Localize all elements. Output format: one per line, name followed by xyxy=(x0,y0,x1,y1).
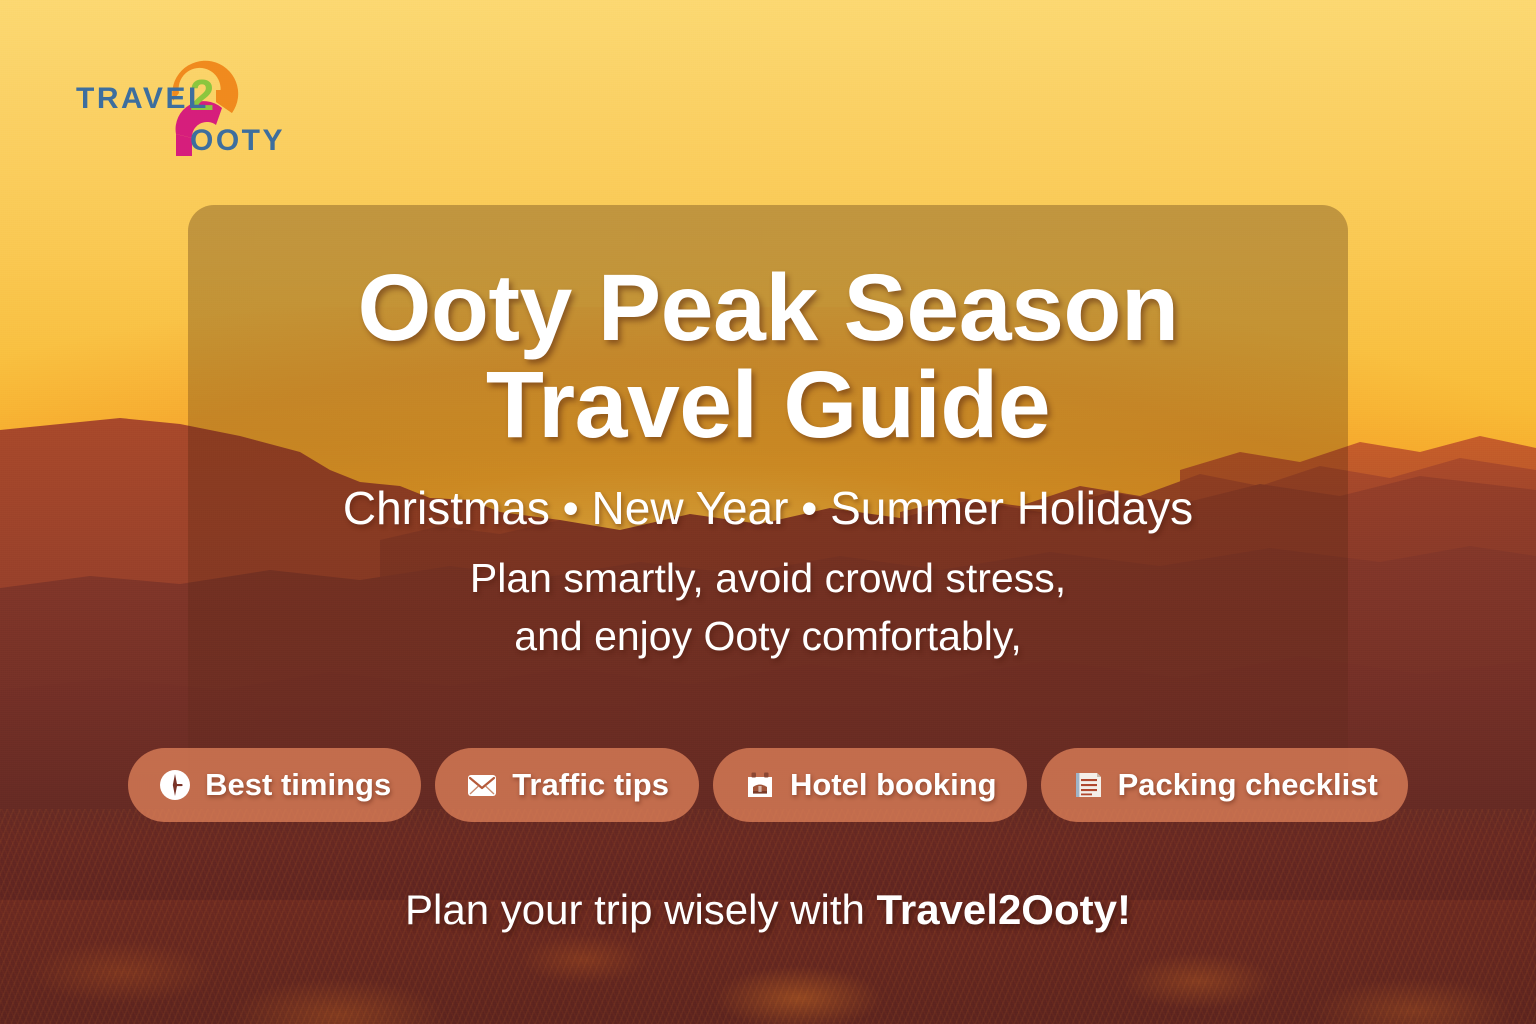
pill-label: Packing checklist xyxy=(1118,767,1378,803)
logo-word-travel: TRAVEL xyxy=(76,82,209,115)
feature-pill-row: Best timings Traffic tips xyxy=(0,748,1536,822)
footer-brand: Travel2Ooty! xyxy=(877,886,1131,933)
envelope-icon xyxy=(465,768,499,802)
travel2ooty-logo[interactable]: 2 TRAVEL OOTY xyxy=(72,38,282,158)
hero-content: Ooty Peak Season Travel Guide Christmas … xyxy=(0,205,1536,665)
pill-packing-checklist[interactable]: Packing checklist xyxy=(1041,748,1408,822)
pill-label: Best timings xyxy=(205,767,391,803)
logo-word-ooty: OOTY xyxy=(190,124,282,157)
footer-prefix: Plan your trip wisely with xyxy=(405,886,877,933)
footer-cta: Plan your trip wisely with Travel2Ooty! xyxy=(0,886,1536,934)
season-list: Christmas • New Year • Summer Holidays xyxy=(0,482,1536,535)
pill-label: Traffic tips xyxy=(512,767,669,803)
clock-icon xyxy=(158,768,192,802)
pill-hotel-booking[interactable]: Hotel booking xyxy=(713,748,1027,822)
pill-traffic-tips[interactable]: Traffic tips xyxy=(435,748,699,822)
pill-label: Hotel booking xyxy=(790,767,997,803)
poster-canvas: 2 TRAVEL OOTY Ooty Peak Season Travel Gu… xyxy=(0,0,1536,1024)
hero-tagline: Plan smartly, avoid crowd stress, and en… xyxy=(0,549,1536,665)
hotel-icon xyxy=(743,768,777,802)
pill-best-timings[interactable]: Best timings xyxy=(128,748,421,822)
document-list-icon xyxy=(1071,768,1105,802)
page-title: Ooty Peak Season Travel Guide xyxy=(0,205,1536,454)
